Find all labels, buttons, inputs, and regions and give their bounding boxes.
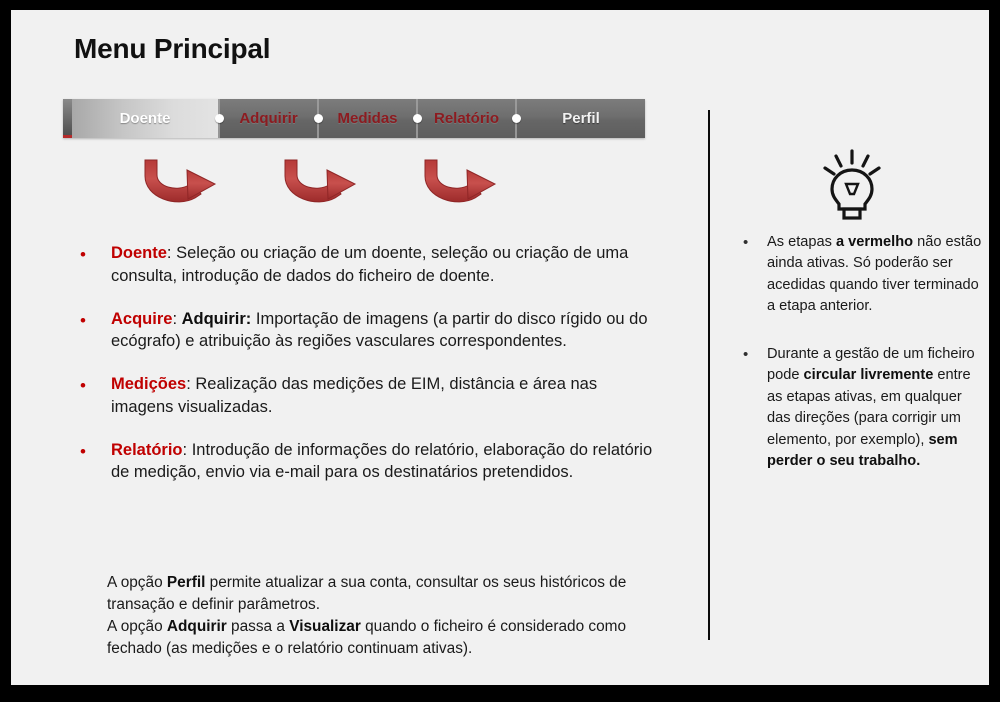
bullet-keyword: Acquire [111, 310, 172, 328]
bullet-subkeyword: Adquirir: [182, 310, 252, 328]
slide-canvas: Menu Principal Doente Adquirir Medidas R… [11, 10, 989, 685]
nav-tab-doente-label: Doente [120, 110, 171, 127]
flow-arrows-group [131, 154, 531, 216]
list-item: • Acquire: Adquirir: Importação de image… [75, 308, 653, 354]
curved-arrow-icon-1 [131, 154, 251, 216]
list-item: • Medições: Realização das medições de E… [75, 373, 653, 419]
bullet-dot-icon: • [743, 344, 748, 366]
note-2c: passa a [227, 618, 289, 635]
right-bullet-list: • As etapas a vermelho não estão ainda a… [739, 232, 983, 498]
list-item: • Durante a gestão de um ficheiro pode c… [739, 344, 983, 473]
right-bullet-2b: circular livremente [804, 367, 934, 383]
nav-tab-adquirir[interactable]: Adquirir [220, 99, 317, 138]
bullet-dot-icon: • [80, 440, 86, 463]
list-item: • As etapas a vermelho não estão ainda a… [739, 232, 983, 318]
note-1a: A opção [107, 574, 167, 591]
bullet-keyword: Relatório [111, 441, 183, 459]
bullet-text: Introdução de informações do relatório, … [111, 441, 652, 482]
bullet-lead: : [172, 310, 181, 328]
note-1b: Perfil [167, 574, 206, 591]
bullet-keyword: Medições [111, 375, 186, 393]
left-note-paragraph: A opção Perfil permite atualizar a sua c… [107, 572, 655, 660]
bullet-lead: : [186, 375, 195, 393]
bullet-text: Seleção ou criação de um doente, seleção… [111, 244, 628, 285]
vertical-divider [708, 110, 710, 640]
note-2a: A opção [107, 618, 167, 635]
nav-tab-doente[interactable]: Doente [72, 99, 218, 138]
nav-tab-perfil[interactable]: Perfil [517, 99, 645, 138]
list-item: • Relatório: Introdução de informações d… [75, 439, 653, 485]
nav-tab-adquirir-label: Adquirir [239, 110, 297, 127]
nav-tab-medidas-label: Medidas [337, 110, 397, 127]
note-2d: Visualizar [289, 618, 361, 635]
bullet-lead: : [167, 244, 176, 262]
nav-tab-relatorio[interactable]: Relatório [418, 99, 515, 138]
note-line-2: A opção Adquirir passa a Visualizar quan… [107, 616, 655, 660]
curved-arrow-icon-3 [411, 154, 531, 216]
nav-tab-relatorio-label: Relatório [434, 110, 499, 127]
bullet-dot-icon: • [743, 232, 748, 254]
left-bullet-list: • Doente: Seleção ou criação de um doent… [75, 242, 653, 504]
right-bullet-1b: a vermelho [836, 234, 913, 250]
bullet-keyword: Doente [111, 244, 167, 262]
page-title: Menu Principal [74, 33, 270, 65]
bullet-dot-icon: • [80, 374, 86, 397]
nav-tab-perfil-label: Perfil [562, 110, 600, 127]
bullet-dot-icon: • [80, 243, 86, 266]
curved-arrow-icon-2 [271, 154, 391, 216]
navigation-bar[interactable]: Doente Adquirir Medidas Relatório Perfil [63, 99, 645, 138]
bullet-lead: : [183, 441, 192, 459]
nav-left-edge-marker [63, 99, 72, 138]
lightbulb-icon [817, 148, 887, 224]
list-item: • Doente: Seleção ou criação de um doent… [75, 242, 653, 288]
note-line-1: A opção Perfil permite atualizar a sua c… [107, 572, 655, 616]
nav-tab-medidas[interactable]: Medidas [319, 99, 416, 138]
bullet-dot-icon: • [80, 309, 86, 332]
note-2b: Adquirir [167, 618, 227, 635]
right-bullet-1a: As etapas [767, 234, 836, 250]
